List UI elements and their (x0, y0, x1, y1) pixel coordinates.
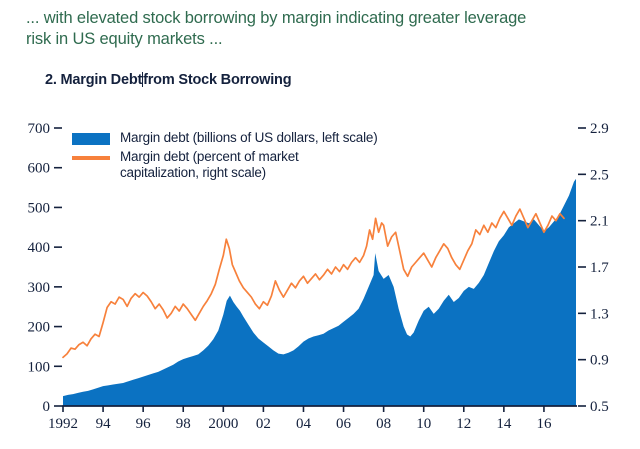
header-caption: ... with elevated stock borrowing by mar… (26, 8, 626, 50)
right-axis-tick-label: 0.9 (590, 353, 609, 369)
x-axis-tick-label: 16 (536, 416, 552, 432)
legend-swatch-orange-line-icon (72, 152, 110, 164)
x-axis-tick-label: 06 (336, 416, 352, 432)
right-axis-tick-label: 1.3 (590, 306, 609, 322)
right-axis-tick-label: 2.9 (590, 121, 609, 137)
x-axis-tick-label: 08 (376, 416, 391, 432)
right-axis-tick-label: 2.1 (590, 214, 609, 230)
x-axis-tick-label: 12 (456, 416, 471, 432)
left-axis-tick-label: 200 (28, 320, 51, 336)
x-axis-tick-label: 02 (256, 416, 271, 432)
left-axis-tick-label: 100 (28, 359, 51, 375)
legend-label-billions: Margin debt (billions of US dollars, lef… (120, 130, 378, 146)
left-axis-tick-label: 500 (28, 200, 51, 216)
right-axis-tick-label: 2.5 (590, 167, 609, 183)
x-axis-tick-label: 94 (96, 416, 112, 432)
left-axis-tick-label: 700 (28, 121, 51, 137)
legend-label-percent: Margin debt (percent of market capitaliz… (120, 149, 299, 181)
x-axis-tick-label: 98 (176, 416, 191, 432)
legend-item-margin-debt-billions: Margin debt (billions of US dollars, lef… (72, 130, 378, 146)
chart-plot: 01002003004005006007000.50.91.31.72.12.5… (0, 0, 640, 449)
left-axis-tick-label: 0 (43, 399, 51, 415)
x-axis-tick-label: 2000 (208, 416, 238, 432)
x-axis-tick-label: 1992 (48, 416, 78, 432)
x-axis-tick-label: 10 (416, 416, 431, 432)
right-axis-tick-label: 0.5 (590, 399, 609, 415)
legend-swatch-blue-icon (72, 133, 110, 145)
left-axis-tick-label: 400 (28, 240, 51, 256)
right-axis-tick-label: 1.7 (590, 260, 609, 276)
panel-title-before-caret: 2. Margin Debt (45, 72, 142, 88)
chart-page: ... with elevated stock borrowing by mar… (0, 0, 640, 449)
chart-legend: Margin debt (billions of US dollars, lef… (72, 130, 378, 184)
left-axis-tick-label: 600 (28, 161, 51, 177)
header-caption-line-2: risk in US equity markets ... (26, 29, 626, 50)
legend-item-margin-debt-percent: Margin debt (percent of market capitaliz… (72, 149, 378, 181)
panel-title: 2. Margin Debtfrom Stock Borrowing (45, 72, 291, 88)
series-line-margin-debt-percent (63, 209, 564, 357)
x-axis-tick-label: 14 (496, 416, 512, 432)
x-axis-tick-label: 04 (296, 416, 312, 432)
left-axis-tick-label: 300 (28, 280, 51, 296)
header-caption-line-1: ... with elevated stock borrowing by mar… (26, 8, 626, 29)
x-axis-tick-label: 96 (136, 416, 152, 432)
panel-title-after-caret: from Stock Borrowing (143, 72, 291, 88)
series-area-margin-debt-billions (63, 179, 576, 406)
